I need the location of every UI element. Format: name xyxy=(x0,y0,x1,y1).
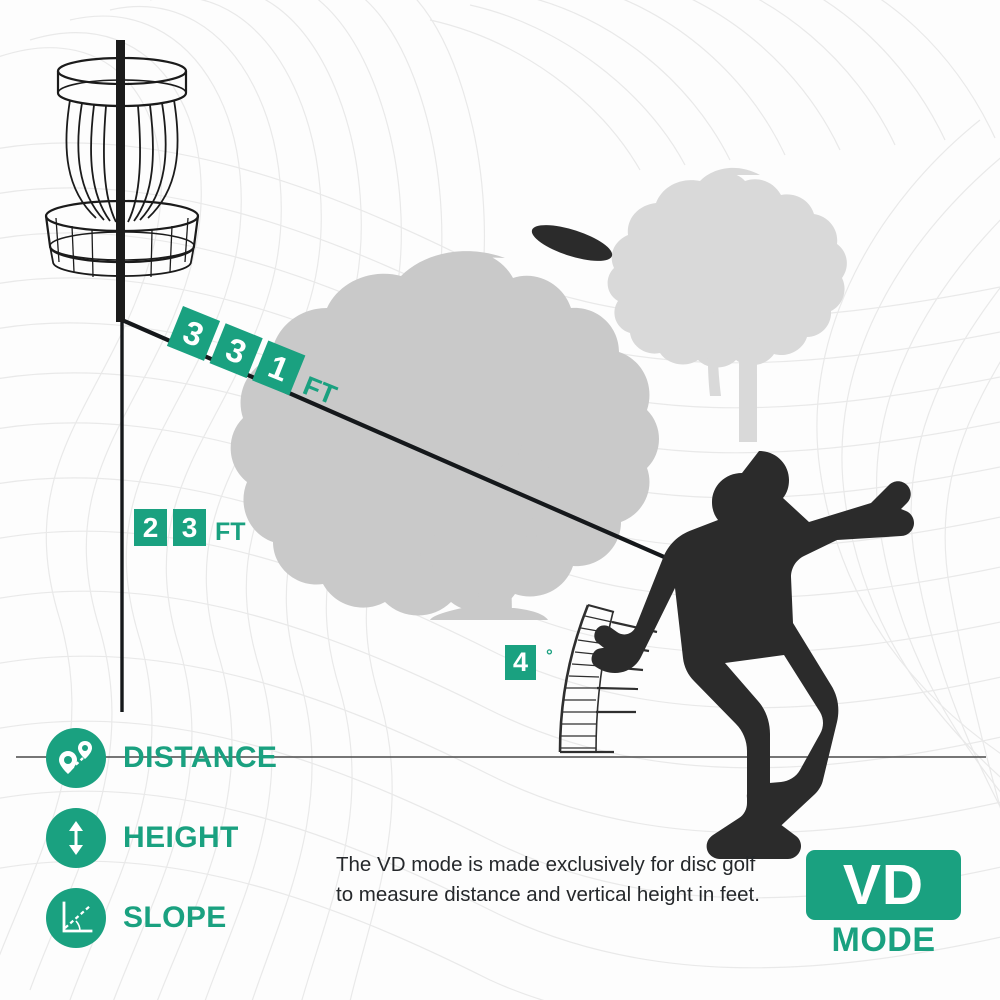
caption-text: The VD mode is made exclusively for disc… xyxy=(336,850,806,909)
map-pins-path-icon xyxy=(46,728,106,788)
caption-line-1: The VD mode is made exclusively for disc… xyxy=(336,850,806,880)
legend-label-distance: DISTANCE xyxy=(123,741,277,775)
vd-mode-label: MODE xyxy=(806,922,961,959)
vd-abbreviation: VD xyxy=(806,850,961,920)
feature-legend: DISTANCE HEIGHT xyxy=(46,718,346,958)
legend-item-slope[interactable]: SLOPE xyxy=(46,878,346,958)
legend-item-distance[interactable]: DISTANCE xyxy=(46,718,346,798)
height-digit: 2 xyxy=(134,509,167,546)
slope-axes-icon xyxy=(46,888,106,948)
height-unit: FT xyxy=(215,520,246,546)
vd-mode-badge: VD MODE xyxy=(806,850,961,959)
legend-label-slope: SLOPE xyxy=(123,901,227,935)
slope-digit: 4 xyxy=(505,645,536,680)
caption-line-2: to measure distance and vertical height … xyxy=(336,880,806,910)
height-digit: 3 xyxy=(173,509,206,546)
height-measurement-label: 2 3 FT xyxy=(134,509,246,546)
slope-measurement-label: 4 ° xyxy=(505,645,553,680)
vertical-double-arrow-icon xyxy=(46,808,106,868)
vd-mode-infographic: 3 3 1 FT 2 3 FT 4 ° xyxy=(0,0,1000,1000)
slope-unit: ° xyxy=(546,645,553,664)
legend-label-height: HEIGHT xyxy=(123,821,239,855)
legend-item-height[interactable]: HEIGHT xyxy=(46,798,346,878)
